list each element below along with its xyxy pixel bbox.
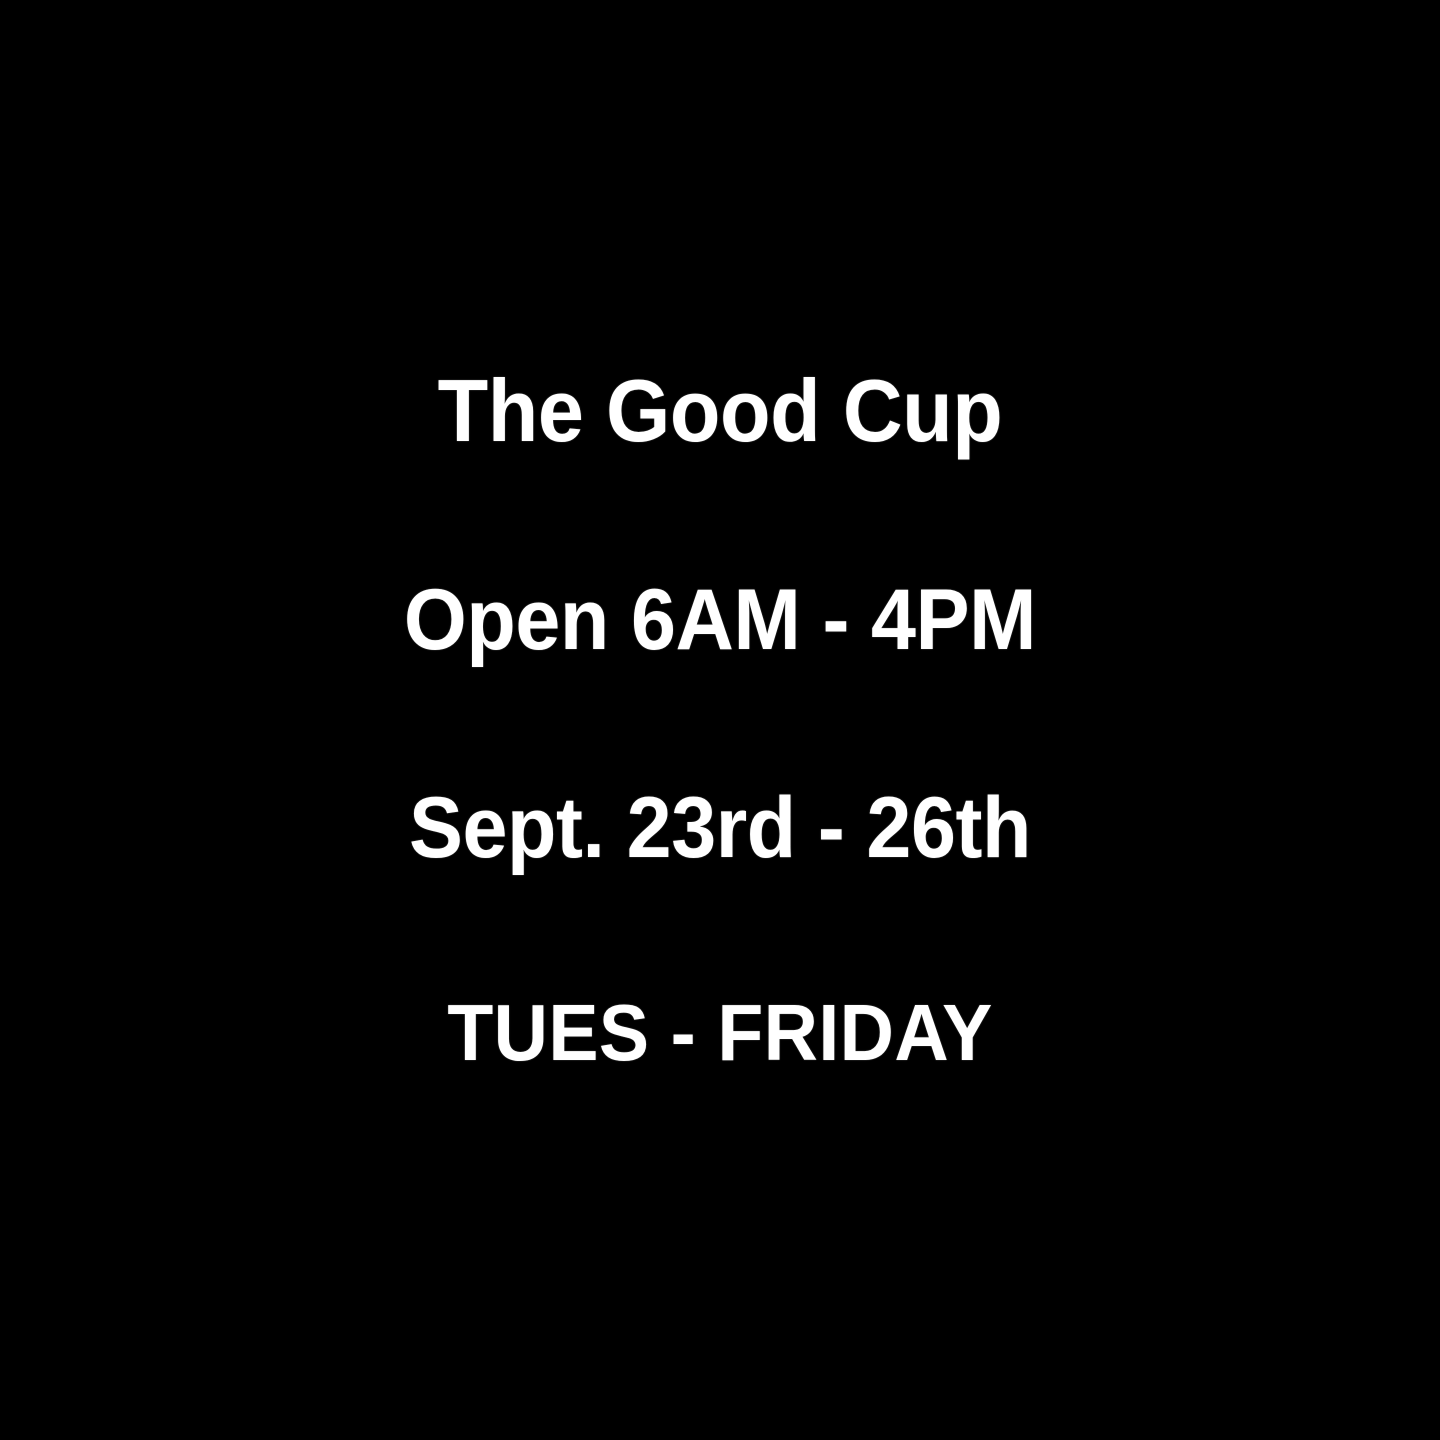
poster-text-block: The Good Cup Open 6AM - 4PM Sept. 23rd -…	[0, 0, 1440, 1440]
opening-hours: Open 6AM - 4PM	[43, 577, 1397, 663]
business-name: The Good Cup	[43, 367, 1397, 455]
date-range: Sept. 23rd - 26th	[43, 785, 1397, 871]
days-of-week: TUES - FRIDAY	[43, 993, 1397, 1073]
announcement-poster: The Good Cup Open 6AM - 4PM Sept. 23rd -…	[0, 0, 1440, 1440]
